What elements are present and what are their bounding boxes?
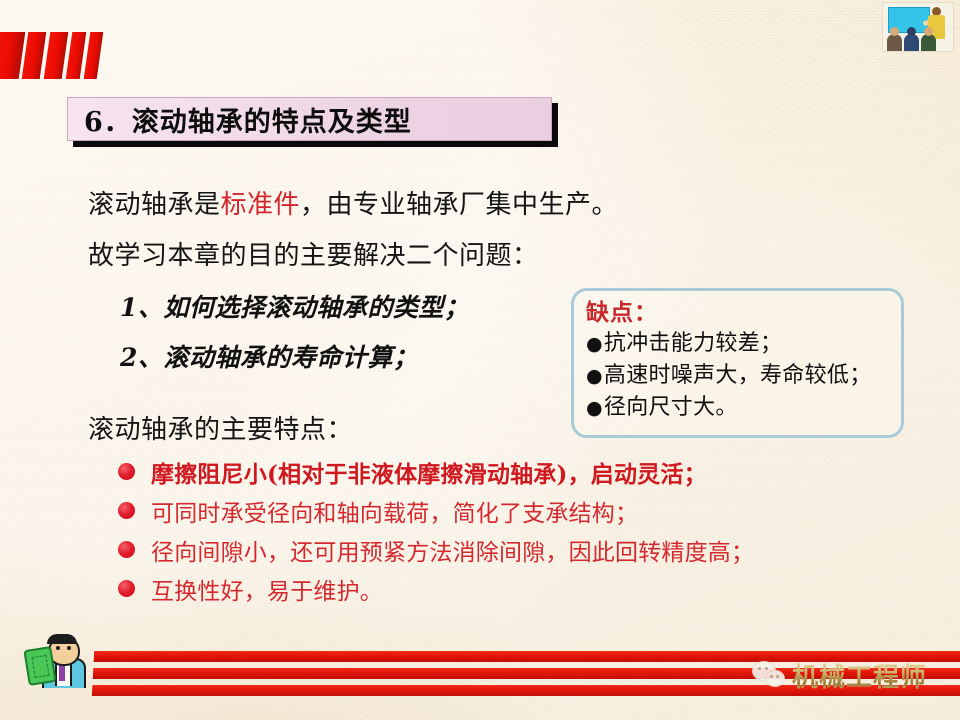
- red-bullet-icon: [118, 463, 135, 480]
- drawback-item-label: 抗冲击能力较差；: [604, 331, 782, 356]
- bubble-dot: [776, 675, 779, 678]
- drawbacks-callout-box: 缺点： ●抗冲击能力较差； ●高速时噪声大，寿命较低； ●径向尺寸大。: [571, 288, 904, 438]
- intro-line-1-highlight: 标准件: [221, 190, 301, 220]
- bubble-dot: [765, 667, 768, 670]
- eye-shape: [56, 646, 60, 650]
- drawback-item: ●径向尺寸大。: [586, 392, 901, 424]
- hair-shape: [47, 634, 77, 644]
- student-shape: [921, 34, 936, 51]
- eye-shape: [67, 646, 71, 650]
- chat-bubble-shape: [765, 670, 785, 687]
- slide-canvas: 6．滚动轴承的特点及类型 滚动轴承是标准件，由专业轴承厂集中生产。 故学习本章的…: [0, 0, 960, 720]
- page-title: 6．滚动轴承的特点及类型: [68, 100, 412, 139]
- red-bullet-icon: [118, 502, 135, 519]
- red-bar: [66, 32, 87, 79]
- student-shape: [887, 34, 902, 51]
- features-heading: 滚动轴承的主要特点：: [88, 409, 353, 446]
- slide-title-banner: 6．滚动轴承的特点及类型: [67, 97, 552, 141]
- intro-line-2: 故学习本章的目的主要解决二个问题：: [88, 235, 539, 272]
- student-shape: [904, 34, 919, 51]
- bubble-dot: [758, 667, 761, 670]
- question-item-2: 2、滚动轴承的寿命计算；: [120, 338, 418, 374]
- businessman-with-money-icon: [24, 632, 86, 688]
- feature-list-item: 可同时承受径向和轴向载荷，简化了支承结构；: [118, 491, 918, 530]
- drawback-item-label: 径向尺寸大。: [604, 395, 738, 420]
- question-item-1: 1、如何选择滚动轴承的类型；: [120, 288, 469, 324]
- red-slanted-bars-decoration: [0, 32, 112, 79]
- wechat-icon: [752, 661, 786, 689]
- red-bullet-icon: [118, 541, 135, 558]
- red-bar: [84, 32, 104, 79]
- drawback-item: ●高速时噪声大，寿命较低；: [586, 360, 901, 392]
- feature-item-label: 摩擦阻尼小(相对于非液体摩擦滑动轴承)，启动灵活；: [151, 455, 707, 489]
- feature-item-label: 可同时承受径向和轴向载荷，简化了支承结构；: [151, 494, 638, 528]
- intro-line-1-suffix: ，由专业轴承厂集中生产。: [300, 190, 618, 220]
- red-bar: [0, 32, 25, 79]
- bullet-glyph-icon: ●: [586, 397, 603, 419]
- drawback-item: ●抗冲击能力较差；: [586, 328, 901, 360]
- red-bullet-icon: [118, 580, 135, 597]
- feature-item-label: 径向间隙小，还可用预紧方法消除间隙，因此回转精度高；: [151, 533, 754, 567]
- drawbacks-title: 缺点：: [586, 298, 901, 328]
- watermark: 机械工程师: [752, 655, 927, 695]
- feature-list-item: 径向间隙小，还可用预紧方法消除间隙，因此回转精度高；: [118, 530, 918, 569]
- red-bar: [22, 32, 47, 79]
- feature-list-item: 互换性好，易于维护。: [118, 569, 918, 608]
- feature-item-label: 互换性好，易于维护。: [151, 572, 383, 606]
- bullet-glyph-icon: ●: [586, 365, 603, 387]
- feature-list-item: 摩擦阻尼小(相对于非液体摩擦滑动轴承)，启动灵活；: [118, 452, 918, 491]
- drawback-item-label: 高速时噪声大，寿命较低；: [604, 363, 872, 388]
- title-banner-fill: 6．滚动轴承的特点及类型: [67, 97, 552, 141]
- red-bar: [44, 32, 69, 79]
- watermark-label: 机械工程师: [792, 657, 927, 694]
- features-list: 摩擦阻尼小(相对于非液体摩擦滑动轴承)，启动灵活； 可同时承受径向和轴向载荷，简…: [118, 452, 918, 608]
- bullet-glyph-icon: ●: [586, 333, 603, 355]
- intro-line-1-prefix: 滚动轴承是: [88, 190, 221, 220]
- money-shape: [24, 646, 57, 686]
- bubble-dot: [770, 675, 773, 678]
- classroom-clipart-icon: [882, 2, 954, 52]
- intro-line-1: 滚动轴承是标准件，由专业轴承厂集中生产。: [88, 184, 618, 221]
